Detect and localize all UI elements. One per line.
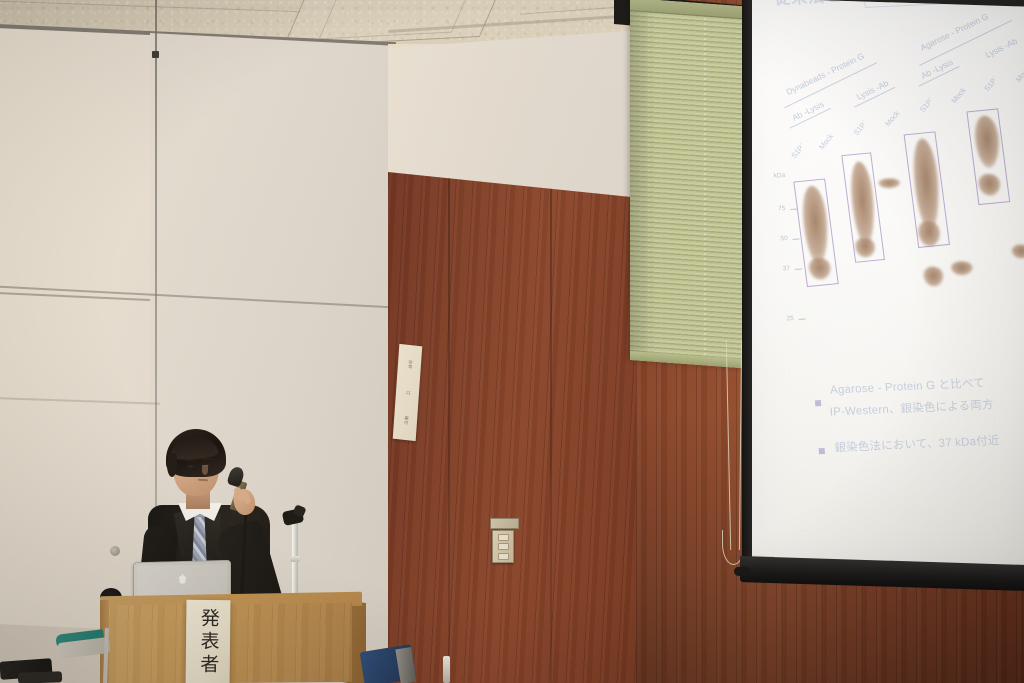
window-blind[interactable] [630, 0, 748, 369]
slide-blot-highlight-box [966, 108, 1010, 205]
slide-bullet-text: Agarose - Protein G と比べて [829, 375, 985, 398]
slide-blot-highlight-box [841, 152, 885, 262]
desk-equipment [18, 671, 62, 683]
podium-presenter-sign: 発表者 [186, 600, 231, 683]
sideburn [167, 453, 177, 477]
light-switch-rocker[interactable] [498, 534, 509, 541]
light-switch-rocker[interactable] [498, 543, 509, 550]
whiteboard-bracket [152, 51, 159, 58]
slide-blot-highlight-box [904, 131, 950, 248]
slide-blot-band [950, 261, 973, 276]
wood-panel-seam [448, 172, 450, 683]
projection-screen: 従来法と IP-Western Dynabeads - Protein G Ag… [752, 0, 1024, 575]
light-switch-plate[interactable] [492, 530, 514, 563]
blind-cord-ladder [648, 0, 650, 361]
slide-ladder-tick [793, 239, 800, 240]
slide-lane-label: Mock [817, 132, 835, 151]
slide-lane-label: S1P` [852, 119, 870, 137]
slide-lane-label: Mock [949, 86, 967, 105]
slide-content: 従来法と IP-Western Dynabeads - Protein G Ag… [752, 0, 1024, 566]
slide-blot-band [878, 178, 901, 189]
slide-lane-label: Mock [1014, 65, 1024, 84]
slide-ladder-unit: kDa [773, 172, 785, 180]
slide-bullet-text: 銀染色法において、37 kDa付近 [834, 432, 1000, 455]
slide-bullet-marker [819, 448, 825, 454]
slide-blot-highlight-box [793, 178, 838, 287]
wood-panel-seam [550, 172, 552, 683]
wall-hook [110, 546, 120, 556]
slide-lane-label: Mock [883, 109, 901, 128]
slide-ladder-tick [799, 319, 806, 320]
slide-ladder-value: 37 [783, 265, 791, 272]
wall-sign-line-3: 案内 [403, 416, 408, 425]
light-switch-rocker[interactable] [498, 553, 509, 560]
slide-blot-band [1011, 244, 1024, 259]
slide-title: 従来法と [773, 0, 843, 9]
slide-lane-label: S1P` [918, 96, 936, 114]
wall-sign-line-1: 非常 [407, 360, 412, 369]
slide-ladder-value: 50 [780, 235, 788, 242]
slide-lane-label: S1P` [789, 142, 807, 160]
light-switch-label-plate [490, 518, 519, 529]
slide-ladder-value: 25 [786, 315, 794, 322]
wall-sign-line-2: 口 [405, 390, 410, 395]
projection-screen-end-cap [734, 567, 750, 577]
slide-bullet-text: IP-Western、銀染色による両方 [829, 396, 994, 419]
slide-sub-header: Lysis -Ab [984, 36, 1019, 60]
blind-cord-ladder [704, 3, 706, 365]
slide-bullet-marker [815, 400, 821, 406]
slide-lane-label: S1P` [982, 75, 1000, 93]
nose [202, 465, 208, 475]
podium-sign-text: 発表者 [198, 608, 218, 677]
slide-blot-band [923, 266, 944, 287]
slide-ladder-tick [795, 269, 802, 270]
slide-ladder-value: 75 [778, 205, 786, 212]
blind-shading [630, 0, 656, 362]
presentation-photo: 非常 口 案内 従来法と IP-Western Dynabeads - Prot… [0, 0, 1024, 683]
white-pole [443, 656, 450, 683]
